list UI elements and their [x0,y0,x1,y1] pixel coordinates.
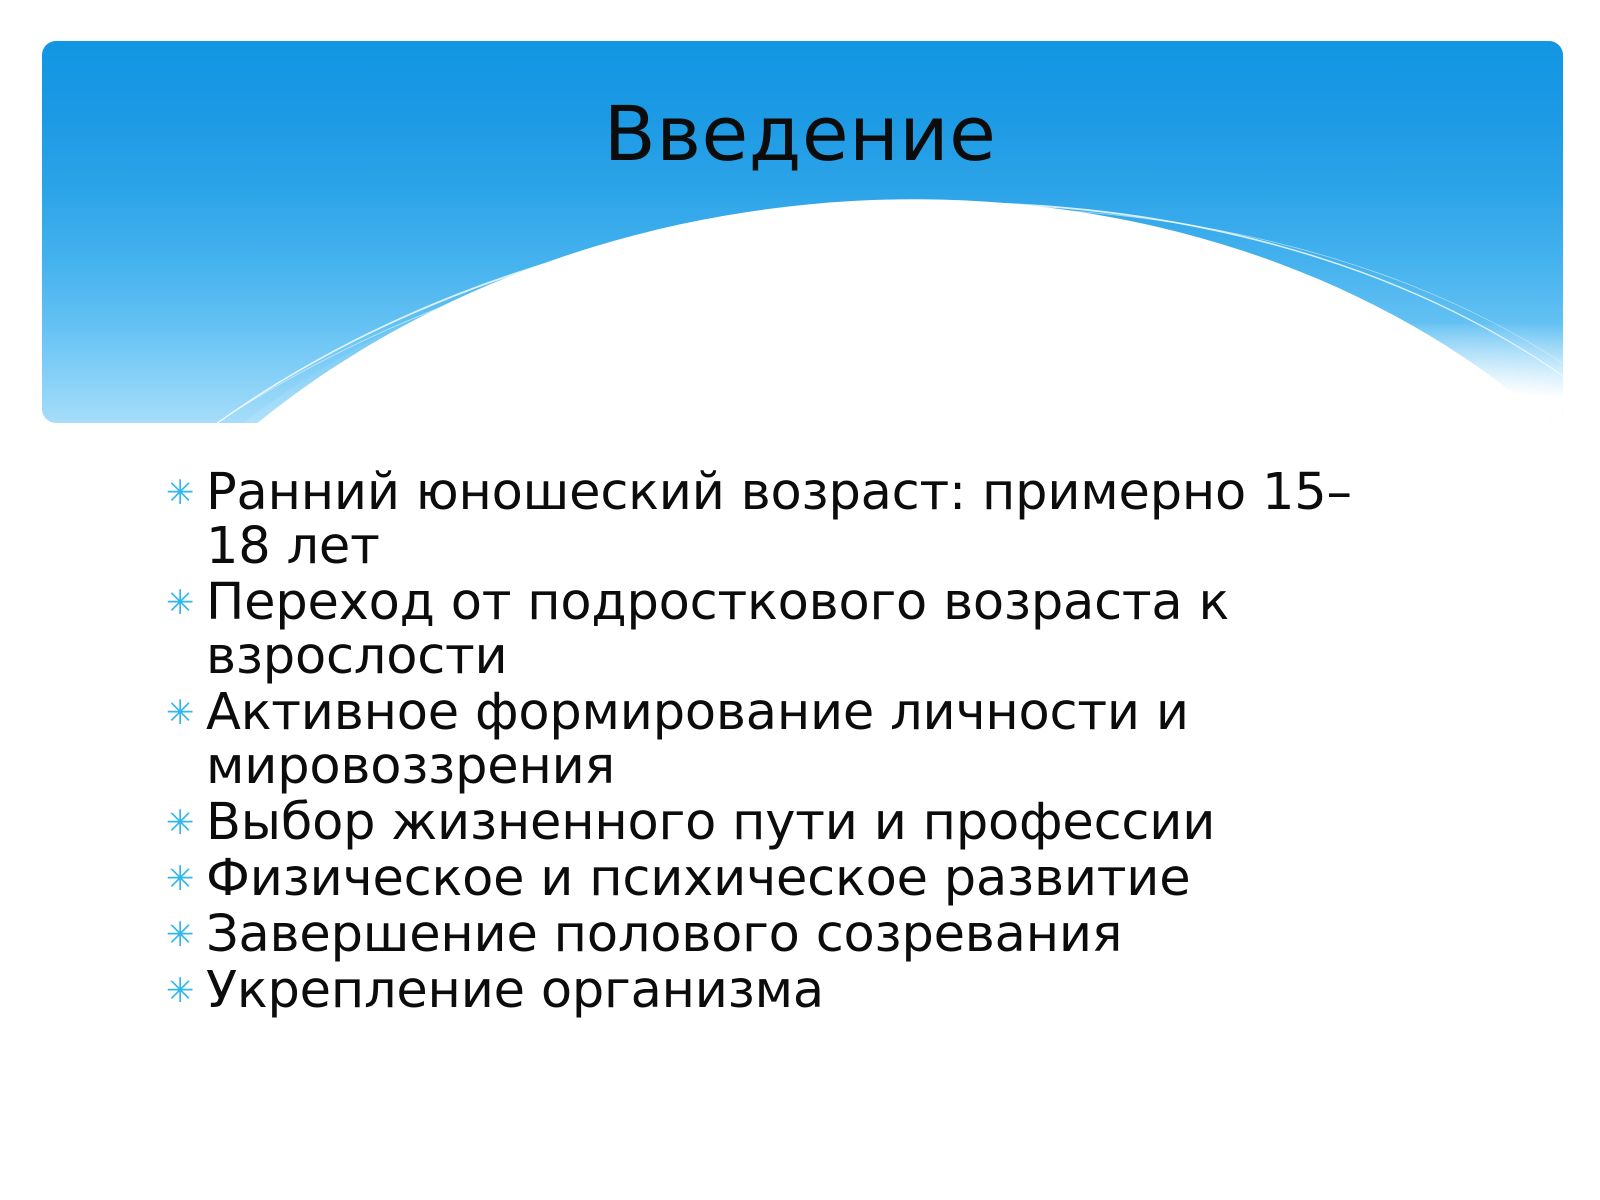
star-bullet-icon: ✳ [160,852,206,906]
slide-title: Введение [0,96,1600,172]
bullet-list: ✳ Ранний юношеский возраст: примерно 15–… [160,466,1490,1020]
list-item-text: Укрепление организма [206,964,1356,1018]
star-bullet-icon: ✳ [160,686,206,740]
list-item: ✳ Выбор жизненного пути и профессии [160,796,1490,850]
list-item: ✳ Переход от подросткового возраста к вз… [160,576,1490,684]
list-item-text: Переход от подросткового возраста к взро… [206,576,1366,684]
list-item: ✳ Активное формирование личности и миров… [160,686,1490,794]
star-bullet-icon: ✳ [160,908,206,962]
list-item-text: Ранний юношеский возраст: примерно 15–18… [206,466,1366,574]
star-bullet-icon: ✳ [160,964,206,1018]
list-item-text: Выбор жизненного пути и профессии [206,796,1356,850]
list-item: ✳ Ранний юношеский возраст: примерно 15–… [160,466,1490,574]
list-item-text: Завершение полового созревания [206,908,1356,962]
list-item: ✳ Физическое и психическое развитие [160,852,1490,906]
star-bullet-icon: ✳ [160,466,206,520]
list-item-text: Физическое и психическое развитие [206,852,1356,906]
wave-corner-highlight [924,324,1563,423]
star-bullet-icon: ✳ [160,796,206,850]
list-item-text: Активное формирование личности и мировоз… [206,686,1366,794]
star-bullet-icon: ✳ [160,576,206,630]
list-item: ✳ Завершение полового созревания [160,908,1490,962]
list-item: ✳ Укрепление организма [160,964,1490,1018]
presentation-slide: Введение ✳ Ранний юношеский возраст: при… [0,0,1600,1200]
